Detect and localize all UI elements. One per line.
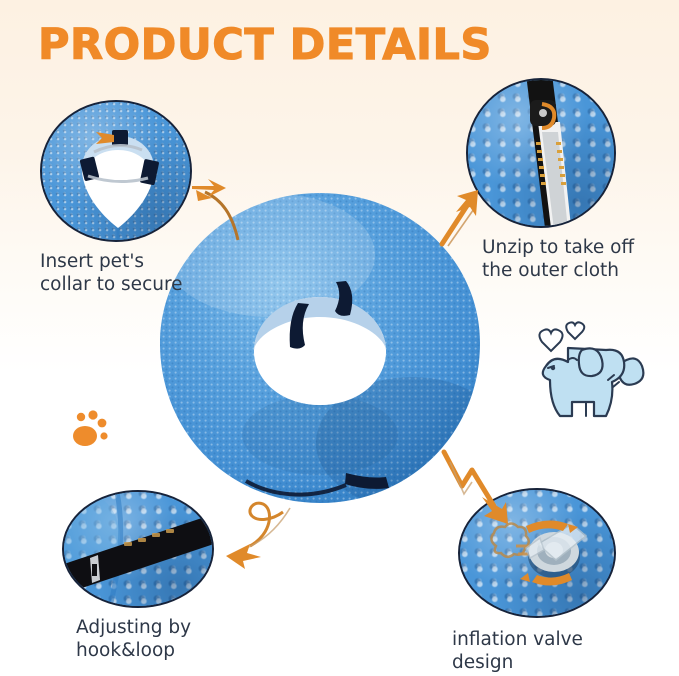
callout-image-hook-and-loop (62, 490, 214, 608)
callout-hook-and-loop[interactable]: Adjusting by hook&loop (62, 490, 214, 608)
callout-unzip-cloth[interactable]: Unzip to take off the outer cloth (466, 78, 616, 228)
callout-image-unzip-cloth (466, 78, 616, 228)
caption-insert-collar: Insert pet's collar to secure (40, 250, 230, 297)
caption-hook-and-loop: Adjusting by hook&loop (76, 616, 266, 663)
dog-body (543, 348, 644, 416)
collar-body (150, 185, 490, 515)
callout-inflation-valve[interactable]: inflation valve design (458, 488, 616, 618)
paw-print-icon (68, 408, 114, 459)
callout-image-inflation-valve (458, 488, 616, 618)
callout-image-insert-collar (40, 100, 192, 242)
product-details-poster: PRODUCT DETAILS (0, 0, 679, 676)
page-title: PRODUCT DETAILS (38, 24, 492, 67)
caption-inflation-valve: inflation valve design (452, 628, 652, 675)
callout-insert-collar[interactable]: Insert pet's collar to secure (40, 100, 192, 242)
caption-unzip-cloth: Unzip to take off the outer cloth (482, 236, 679, 283)
dog-illustration (524, 316, 656, 441)
hearts-icon (539, 322, 584, 351)
product-image-main (150, 185, 490, 515)
